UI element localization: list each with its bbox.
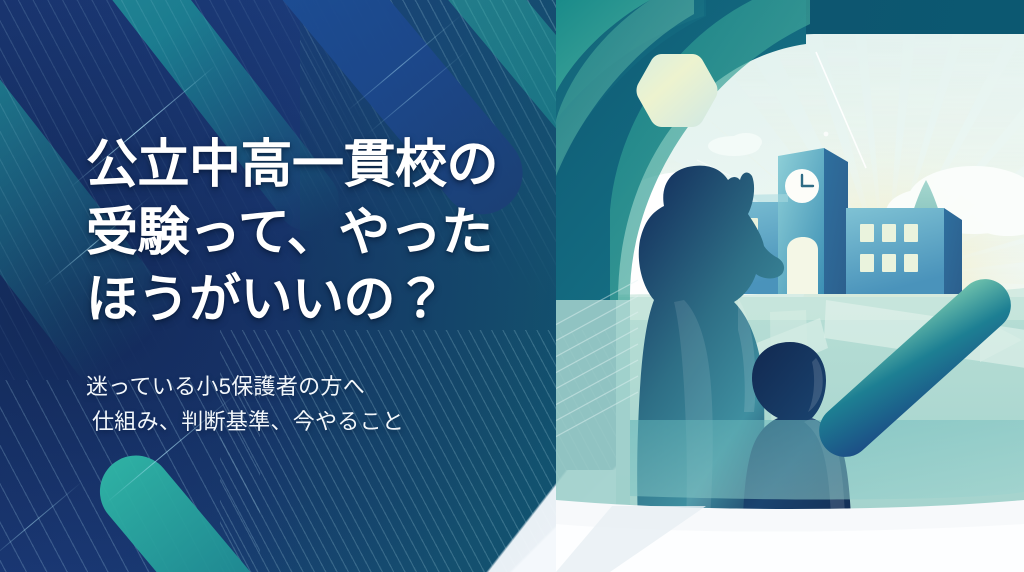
headline-line-3: ほうがいいの？ bbox=[86, 267, 600, 335]
text-block: 公立中高一貫校の 受験って、やった ほうがいいの？ 迷っている小5保護者の方へ … bbox=[0, 0, 600, 572]
school-tower-side bbox=[824, 148, 848, 294]
headline-line-2: 受験って、やった bbox=[86, 200, 600, 268]
subtitle-line-2: 仕組み、判断基準、今やること bbox=[86, 404, 600, 440]
illustration-svg bbox=[556, 0, 1024, 572]
school-entrance bbox=[787, 237, 818, 294]
subtitle-line-1: 迷っている小5保護者の方へ bbox=[86, 369, 600, 405]
subtitle: 迷っている小5保護者の方へ 仕組み、判断基準、今やること bbox=[86, 369, 600, 440]
thumbnail-canvas: 公立中高一貫校の 受験って、やった ほうがいいの？ 迷っている小5保護者の方へ … bbox=[0, 0, 1024, 572]
clock-face bbox=[785, 169, 819, 203]
page-title: 公立中高一貫校の 受験って、やった ほうがいいの？ bbox=[86, 132, 600, 335]
school-right-wing bbox=[846, 208, 944, 294]
star-dot bbox=[824, 132, 829, 137]
headline-line-1: 公立中高一貫校の bbox=[86, 132, 600, 200]
school-right-side bbox=[944, 208, 962, 294]
illustration-panel bbox=[556, 0, 1024, 572]
